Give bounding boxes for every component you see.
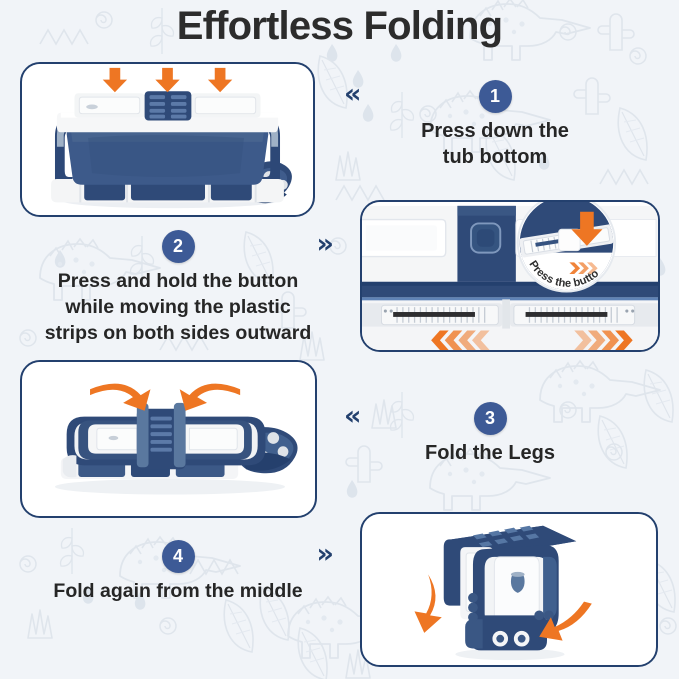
step-1-text: Press down the tub bottom [350,118,640,170]
illustration-panel-step-4 [360,512,658,667]
step-4-header: 4 » [28,538,328,574]
step-1-line-2: tub bottom [350,144,640,170]
infographic-root: Effortless Folding [0,0,679,679]
illustration-panel-step-3 [20,360,317,518]
step-3-text: Fold the Legs [350,440,630,466]
chevron-left-icon: « [344,81,361,108]
step-2: 2 » Press and hold the button while movi… [28,228,328,346]
illustration-panel-step-2: Press the button [360,200,660,352]
step-4-text: Fold again from the middle [28,578,328,604]
step-3-header: « 3 [350,400,630,436]
page-title: Effortless Folding [0,2,679,50]
panel-2-image: Press the button [362,202,658,350]
step-3-badge: 3 [474,402,507,435]
step-3-line-1: Fold the Legs [350,440,630,466]
chevron-left-icon: « [344,403,361,430]
step-4-badge: 4 [162,540,195,573]
step-1-badge: 1 [479,80,512,113]
chevron-right-icon: » [317,541,334,568]
step-2-badge: 2 [162,230,195,263]
panel-4-image [362,514,656,665]
step-4: 4 » Fold again from the middle [28,538,328,604]
step-2-header: 2 » [28,228,328,264]
illustration-panel-step-1 [20,62,315,217]
step-1: « 1 Press down the tub bottom [350,78,640,170]
step-2-line-1: Press and hold the button [28,268,328,294]
panel-1-image [22,64,313,215]
step-2-text: Press and hold the button while moving t… [28,268,328,346]
step-4-line-1: Fold again from the middle [28,578,328,604]
step-2-line-3: strips on both sides outward [28,320,328,346]
step-3: « 3 Fold the Legs [350,400,630,466]
step-1-header: « 1 [350,78,640,114]
step-2-line-2: while moving the plastic [28,294,328,320]
chevron-right-icon: » [317,231,334,258]
panel-3-image [22,362,315,516]
step-1-line-1: Press down the [350,118,640,144]
